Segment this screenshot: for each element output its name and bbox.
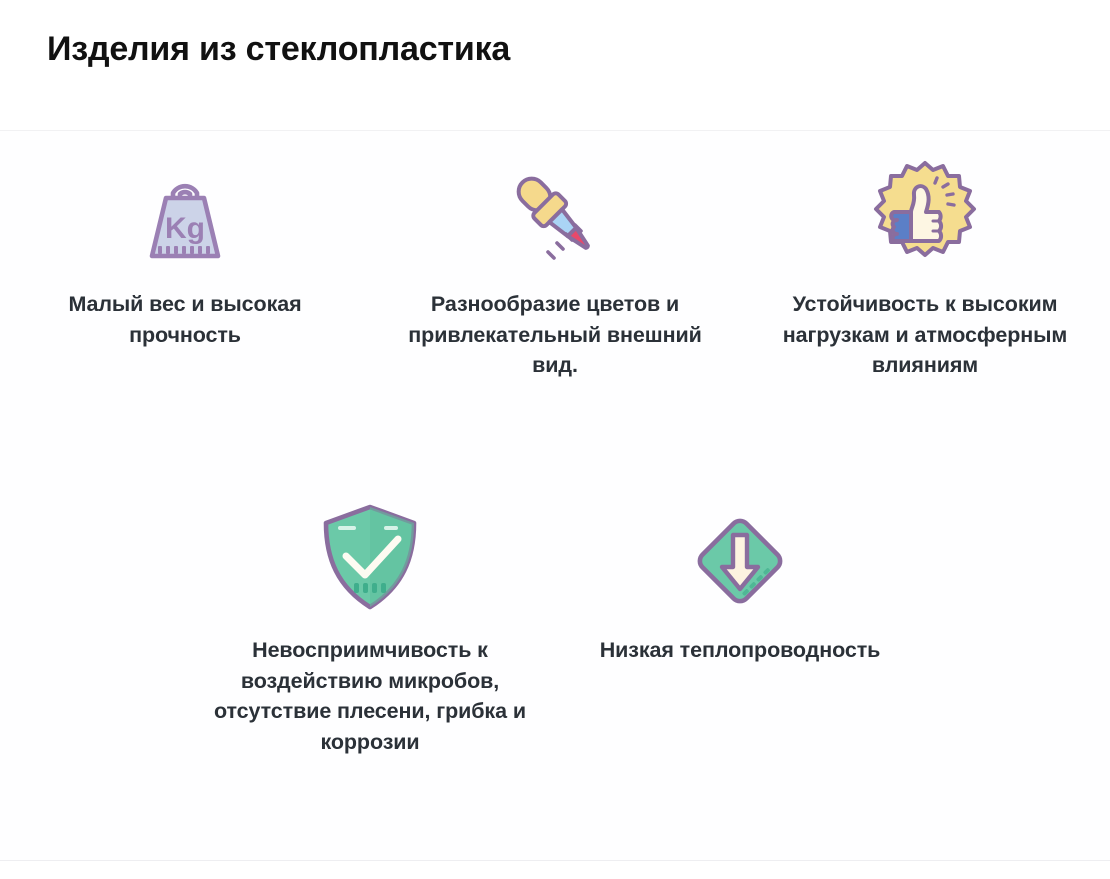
feature-caption: Малый вес и высокая прочность	[35, 289, 335, 350]
svg-text:Kg: Kg	[165, 212, 205, 245]
feature-caption: Невосприимчивость к воздействию микробов…	[210, 635, 530, 757]
feature-row-top: Kg Малый вес и высокая прочн	[0, 155, 1110, 381]
icon-wrap	[318, 501, 422, 613]
dropper-pipette-icon	[503, 163, 607, 267]
feature-caption: Разнообразие цветов и привлекательный вн…	[405, 289, 705, 381]
down-arrow-diamond-icon	[688, 509, 792, 613]
icon-wrap: Kg	[133, 155, 237, 267]
infographic-page: Изделия из стеклопластика Kg	[0, 0, 1110, 879]
icon-wrap	[688, 501, 792, 613]
feature-item-thermal-conductivity: Низкая теплопроводность	[555, 501, 925, 757]
feature-row-bottom: Невосприимчивость к воздействию микробов…	[0, 501, 1110, 757]
shield-check-icon	[318, 501, 422, 613]
feature-item-microbe-resistance: Невосприимчивость к воздействию микробов…	[185, 501, 555, 757]
features-section: Kg Малый вес и высокая прочн	[0, 131, 1110, 861]
feature-item-weight: Kg Малый вес и высокая прочн	[0, 155, 370, 381]
feature-caption: Устойчивость к высоким нагрузкам и атмос…	[765, 289, 1085, 381]
feature-item-colors: Разнообразие цветов и привлекательный вн…	[370, 155, 740, 381]
weight-kg-icon: Kg	[133, 163, 237, 267]
row-spacer	[0, 501, 185, 757]
title-band: Изделия из стеклопластика	[0, 0, 1110, 131]
feature-caption: Низкая теплопроводность	[590, 635, 890, 666]
icon-wrap	[503, 155, 607, 267]
page-title: Изделия из стеклопластика	[47, 30, 510, 69]
icon-wrap	[871, 155, 979, 267]
feature-item-durability: Устойчивость к высоким нагрузкам и атмос…	[740, 155, 1110, 381]
thumbs-up-badge-icon	[871, 159, 979, 267]
